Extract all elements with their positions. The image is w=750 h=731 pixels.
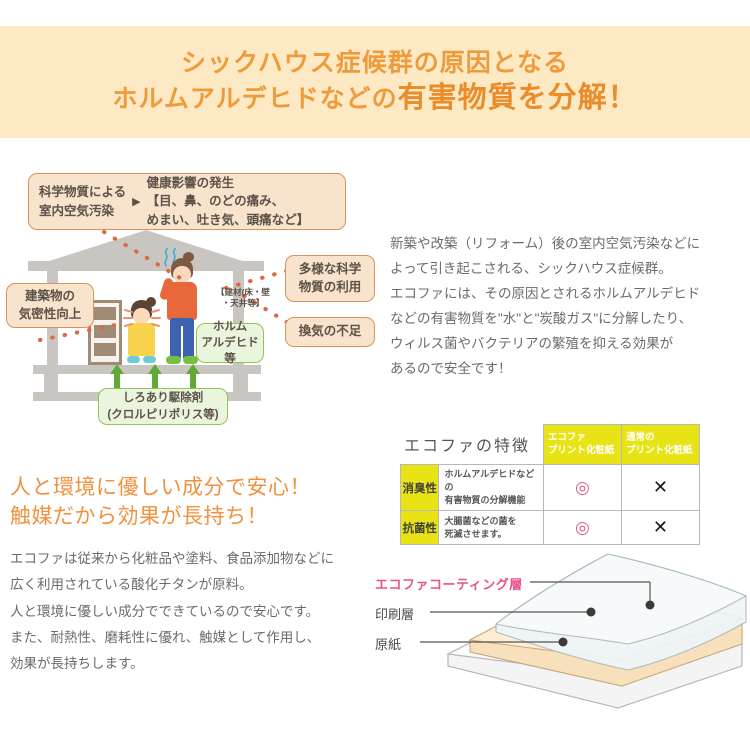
child-face-icon bbox=[133, 308, 150, 324]
coated-paper-layers-illustration bbox=[370, 536, 750, 716]
header-title-emphasis: 有害物質を分解！ bbox=[398, 82, 638, 114]
health-effects-label: 健康影響の発生 【目、鼻、のどの痛み、 めまい、吐き気、頭痛など】 bbox=[147, 174, 310, 228]
leader-dot-coating bbox=[646, 601, 655, 610]
ventilation-callout-label: 換気の不足 bbox=[299, 323, 362, 341]
chemicals-usage-callout: 多様な科学 物質の利用 bbox=[285, 255, 375, 302]
layer-label-base: 原紙 bbox=[375, 634, 401, 653]
eco-section-body: エコファは従来から化粧品や塗料、食品添加物などに 広く利用されている酸化チタンが… bbox=[10, 546, 360, 678]
row-label-deodorizing: 消臭性 bbox=[401, 465, 439, 511]
leader-dot-base bbox=[559, 638, 568, 647]
column-header-eco: エコファ プリント化粧紙 bbox=[543, 425, 621, 465]
layer-label-print: 印刷層 bbox=[375, 604, 414, 623]
bookshelf-shelf-icon bbox=[94, 343, 116, 356]
formaldehyde-callout-label: ホルム アルデヒド等 bbox=[197, 319, 263, 367]
arrow-right-icon: ▶ bbox=[132, 195, 140, 208]
airtightness-callout-label: 建築物の 気密性向上 bbox=[19, 288, 82, 323]
header-title-prefix: ホルムアルデヒドなどの bbox=[112, 85, 397, 113]
header-title-line-1: シックハウス症候群の原因となる bbox=[181, 48, 569, 79]
indoor-pollution-cause-label: 科学物質による 室内空気汚染 bbox=[39, 183, 126, 219]
row-description-deodorizing: ホルムアルデヒドなどの 有害物質の分解機能 bbox=[439, 465, 543, 511]
house-diagram: 【建材(床・壁 ・天井等】 ホルム アルデヒド等 しろあり駆除剤 (クロルピリポ… bbox=[0, 160, 380, 425]
child-shoe-right-icon bbox=[143, 356, 156, 363]
building-material-note: 【建材(床・壁 ・天井等】 bbox=[198, 287, 288, 310]
chemicals-usage-callout-label: 多様な科学 物質の利用 bbox=[299, 261, 362, 296]
cell-eco-deodorizing: ◎ bbox=[543, 465, 621, 511]
eco-section-heading: 人と環境に優しい成分で安心！ 触媒だから効果が長持ち！ bbox=[10, 474, 311, 532]
formaldehyde-callout: ホルム アルデヒド等 bbox=[196, 323, 264, 363]
termite-arrow-head-icon bbox=[148, 364, 162, 374]
feature-table-title: エコファの特徴 bbox=[404, 432, 530, 456]
layer-diagram: エコファコーティング層 印刷層 原紙 bbox=[370, 536, 750, 716]
header-title-line-2: ホルムアルデヒドなどの有害物質を分解！ bbox=[112, 80, 637, 116]
house-pillar-right-icon bbox=[239, 374, 248, 394]
table-row: 消臭性 ホルムアルデヒドなどの 有害物質の分解機能 ◎ ✕ bbox=[401, 465, 700, 511]
layer-label-coating: エコファコーティング層 bbox=[375, 574, 523, 593]
termite-pesticide-callout: しろあり駆除剤 (クロルピリポリス等) bbox=[98, 388, 228, 425]
column-header-normal: 通常の プリント化粧紙 bbox=[621, 425, 699, 465]
cell-normal-deodorizing: ✕ bbox=[621, 465, 699, 511]
airtightness-callout: 建築物の 気密性向上 bbox=[6, 283, 94, 328]
house-pillar-left-icon bbox=[44, 374, 53, 394]
termite-pesticide-callout-label: しろあり駆除剤 (クロルピリポリス等) bbox=[107, 390, 218, 422]
cough-marks-icon bbox=[150, 308, 166, 330]
child-shoe-left-icon bbox=[127, 356, 140, 363]
adult-shoe-left-icon bbox=[166, 356, 181, 364]
leader-dot-print bbox=[587, 608, 596, 617]
intro-paragraph: 新築や改築（リフォーム）後の室内空気汚染などに よって引き起こされる、シックハウ… bbox=[390, 232, 735, 382]
header-banner: シックハウス症候群の原因となる ホルムアルデヒドなどの有害物質を分解！ bbox=[0, 26, 750, 138]
adult-leg-gap-icon bbox=[181, 326, 183, 358]
termite-arrow-head-icon bbox=[110, 364, 124, 374]
ventilation-callout: 換気の不足 bbox=[285, 317, 375, 347]
indoor-pollution-callout: 科学物質による 室内空気汚染 ▶ 健康影響の発生 【目、鼻、のどの痛み、 めまい… bbox=[28, 173, 346, 230]
